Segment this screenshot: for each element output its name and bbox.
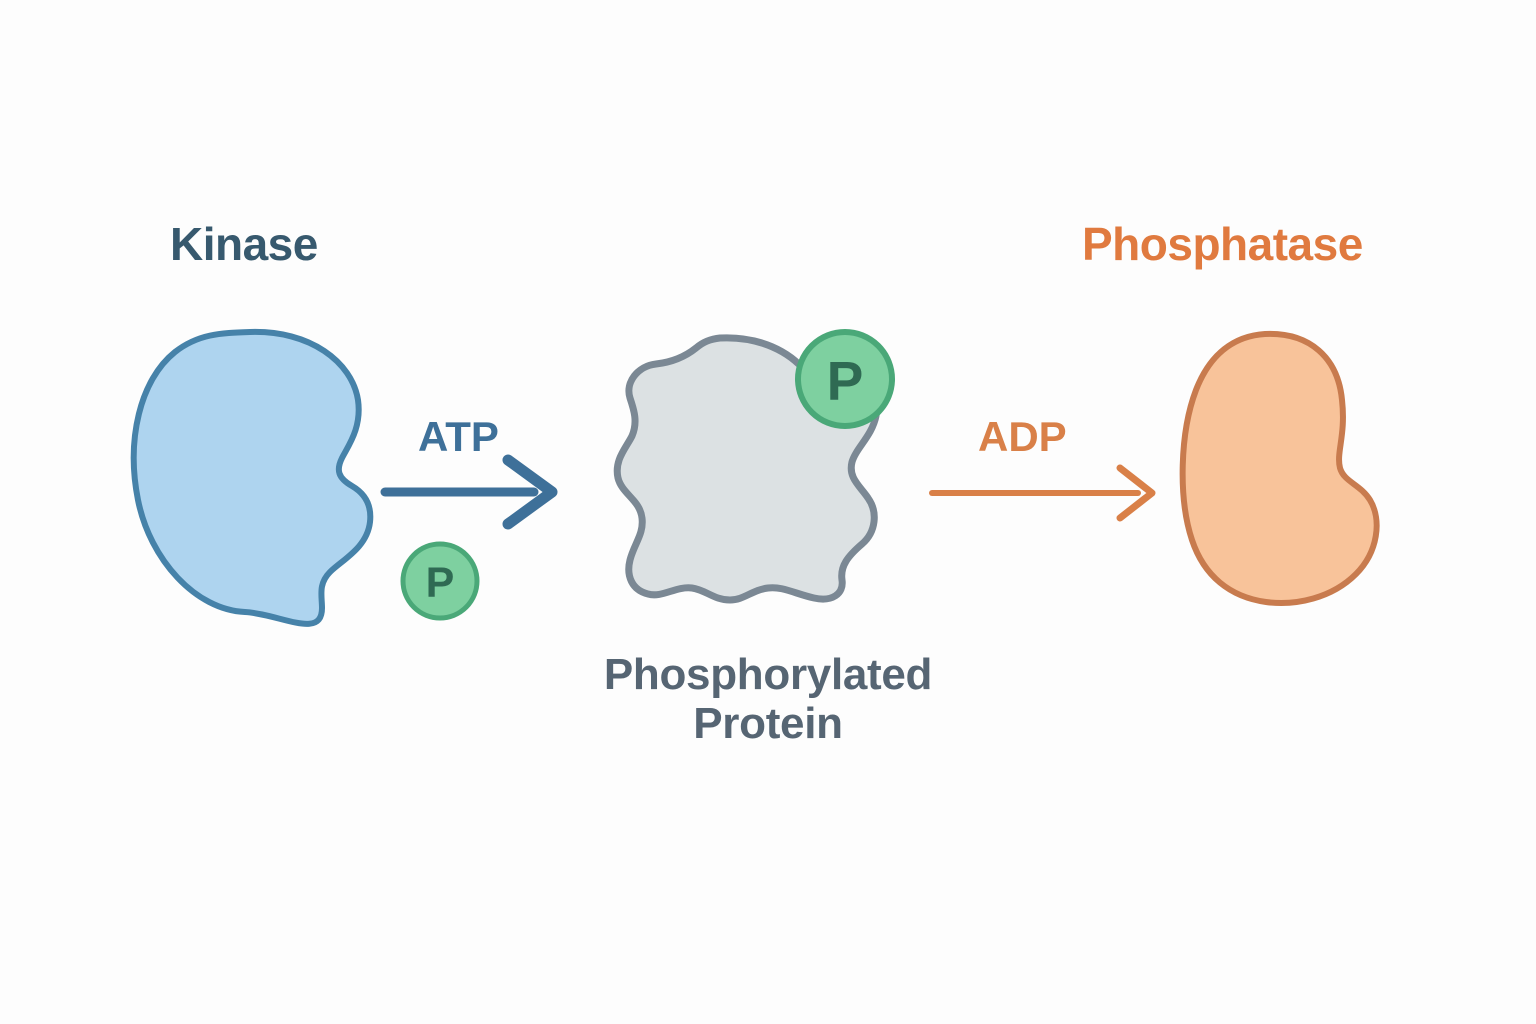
phosphate-attached[interactable]: P	[798, 332, 892, 426]
atp-label: ATP	[418, 413, 499, 460]
caption-line-1: Phosphorylated	[548, 650, 988, 699]
kinase-label: Kinase	[170, 219, 318, 271]
adp-arrow[interactable]	[932, 468, 1152, 518]
phosphate-p-letter: P	[827, 350, 864, 412]
diagram-graphics: P P	[0, 0, 1536, 1024]
phosphate-free[interactable]: P	[403, 544, 477, 618]
kinase-shape[interactable]	[134, 332, 371, 624]
phosphorylated-protein-caption: Phosphorylated Protein	[548, 650, 988, 749]
atp-arrow[interactable]	[385, 460, 552, 524]
caption-line-2: Protein	[548, 699, 988, 748]
phosphatase-label: Phosphatase	[1082, 219, 1363, 271]
phosphatase-shape[interactable]	[1183, 334, 1377, 603]
phosphate-p-letter: P	[426, 559, 455, 607]
adp-label: ADP	[978, 413, 1067, 460]
diagram-canvas: P P Kinase Phosphatase ATP ADP Phosphory…	[0, 0, 1536, 1024]
